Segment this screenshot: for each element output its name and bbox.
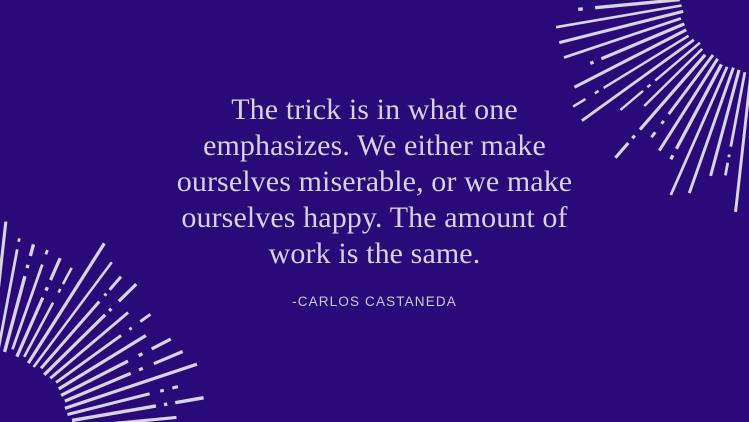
quote-attribution: -CARLOS CASTANEDA [292,294,457,309]
quote-block: The trick is in what one emphasizes. We … [0,0,749,422]
quote-text: The trick is in what one emphasizes. We … [165,92,585,272]
quote-slide: The trick is in what one emphasizes. We … [0,0,749,422]
